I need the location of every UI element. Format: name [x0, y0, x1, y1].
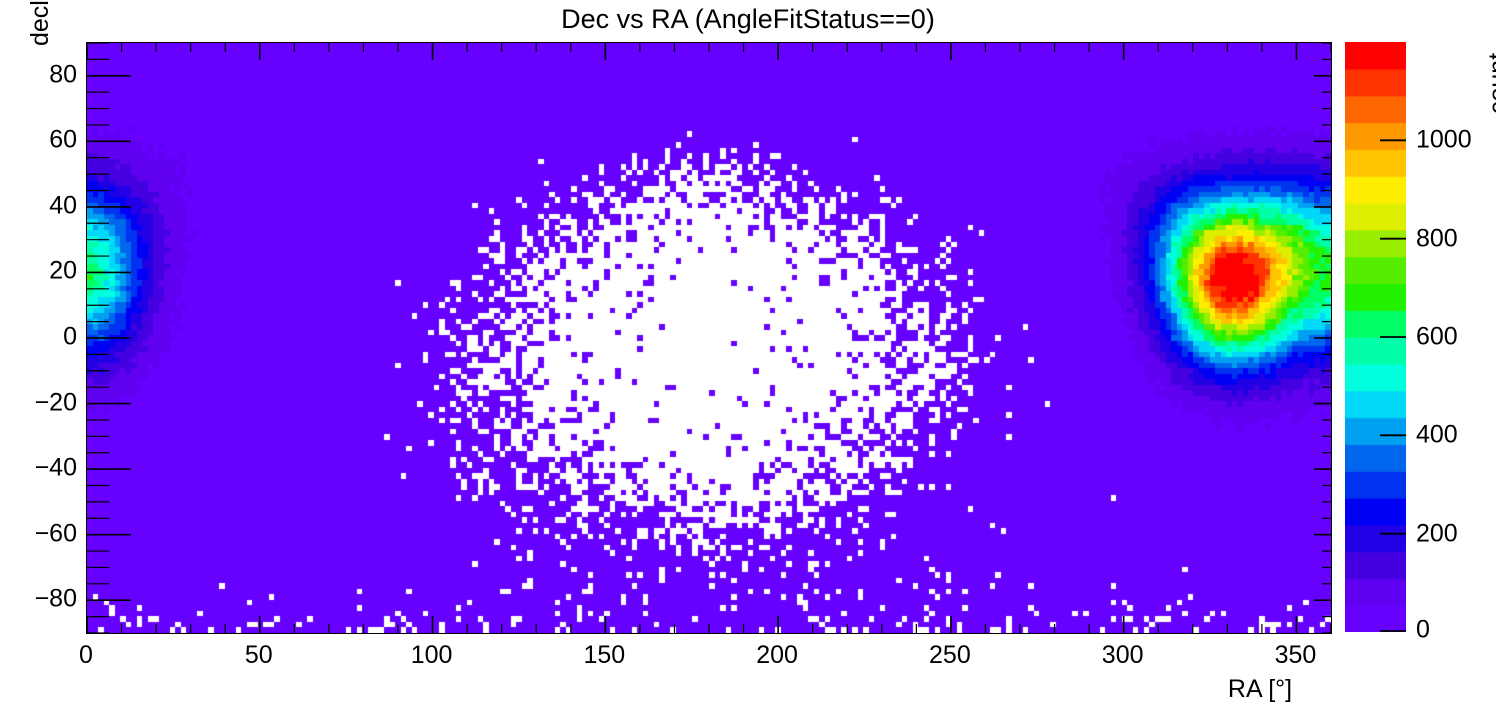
y-tick-label: −60 [35, 519, 77, 548]
y-tick-label: 60 [49, 126, 77, 155]
page-title: Dec vs RA (AngleFitStatus==0) [0, 4, 1496, 35]
x-tick-label: 300 [1102, 641, 1144, 670]
colorbar-gradient[interactable] [1345, 42, 1406, 632]
colorbar-tick-label: 400 [1416, 421, 1458, 450]
x-tick-label: 0 [79, 641, 93, 670]
colorbar-tick-label: 0 [1416, 616, 1430, 645]
y-tick-label: 80 [49, 60, 77, 89]
y-tick-label: 40 [49, 191, 77, 220]
y-axis-title: declination [°] [26, 0, 55, 46]
colorbar-tick-label: 600 [1416, 323, 1458, 352]
x-tick-label: 250 [929, 641, 971, 670]
colorbar-tick-label: 1000 [1416, 126, 1472, 155]
y-tick-label: −40 [35, 454, 77, 483]
x-axis-title: RA [°] [1228, 675, 1292, 704]
colorbar-tick-label: 200 [1416, 519, 1458, 548]
histogram-canvas[interactable] [87, 43, 1331, 633]
x-tick-label: 100 [411, 641, 453, 670]
colorbar-tick-label: 800 [1416, 224, 1458, 253]
y-tick-label: 0 [63, 323, 77, 352]
x-tick-label: 150 [583, 641, 625, 670]
plot-frame[interactable] [86, 42, 1332, 634]
y-tick-label: −80 [35, 585, 77, 614]
x-tick-label: 200 [756, 641, 798, 670]
y-tick-label: 20 [49, 257, 77, 286]
colorbar[interactable] [1345, 42, 1406, 632]
y-tick-label: −20 [35, 388, 77, 417]
x-tick-label: 350 [1275, 641, 1317, 670]
root-canvas: Dec vs RA (AngleFitStatus==0) 0501001502… [0, 0, 1496, 722]
x-tick-label: 50 [245, 641, 273, 670]
colorbar-title: count [1484, 53, 1496, 114]
